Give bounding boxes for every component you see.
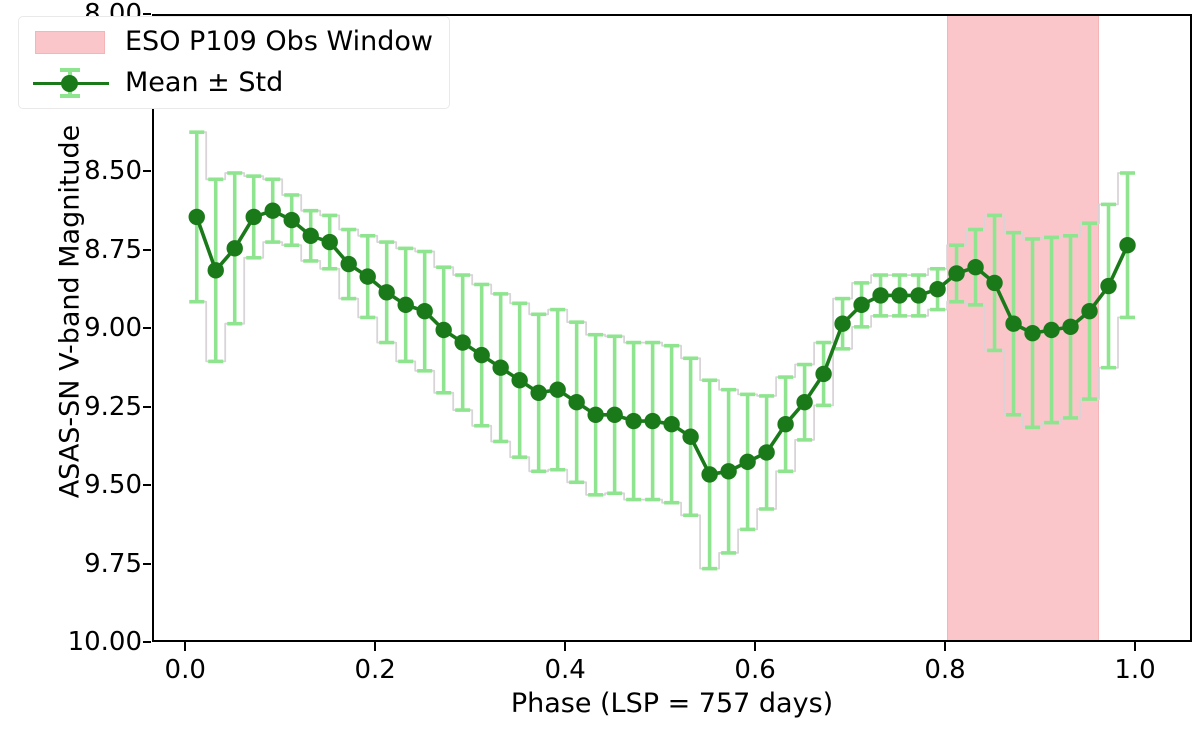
data-point — [435, 322, 451, 338]
data-point — [606, 407, 622, 423]
data-point — [986, 275, 1002, 291]
sigma-band-lower — [197, 242, 1128, 568]
data-point — [777, 416, 793, 432]
data-point — [1024, 325, 1040, 341]
x-tick-mark — [564, 642, 566, 651]
data-point — [284, 212, 300, 228]
data-point — [796, 394, 812, 410]
y-tick-label: 9.50 — [54, 470, 142, 500]
data-point — [929, 281, 945, 297]
y-tick-mark — [143, 327, 151, 329]
data-point — [208, 262, 224, 278]
data-point — [587, 407, 603, 423]
y-tick-mark — [143, 170, 151, 172]
data-point — [1081, 303, 1097, 319]
data-point — [246, 209, 262, 225]
data-point — [378, 284, 394, 300]
legend-label-mean-std: Mean ± Std — [125, 67, 283, 98]
data-point — [815, 366, 831, 382]
data-point — [454, 334, 470, 350]
data-point — [967, 259, 983, 275]
x-tick-label: 0.4 — [505, 655, 625, 685]
data-point — [891, 287, 907, 303]
data-point — [492, 359, 508, 375]
data-point — [1119, 237, 1135, 253]
data-point — [416, 303, 432, 319]
data-point — [1062, 319, 1078, 335]
data-point — [853, 297, 869, 313]
data-point — [265, 202, 281, 218]
x-tick-label: 0.6 — [695, 655, 815, 685]
sigma-band-upper — [197, 132, 1128, 396]
data-point — [625, 413, 641, 429]
data-point — [663, 416, 679, 432]
data-point — [739, 454, 755, 470]
data-point — [701, 466, 717, 482]
data-point — [1100, 278, 1116, 294]
x-tick-label: 0.8 — [885, 655, 1005, 685]
data-point — [644, 413, 660, 429]
data-point — [189, 209, 205, 225]
data-point — [549, 381, 565, 397]
data-point — [720, 463, 736, 479]
data-point — [341, 256, 357, 272]
y-tick-mark — [143, 406, 151, 408]
y-tick-mark — [143, 563, 151, 565]
data-point — [227, 240, 243, 256]
data-point — [872, 287, 888, 303]
marker-dot-icon — [61, 75, 78, 92]
y-tick-mark — [143, 249, 151, 251]
data-point — [834, 316, 850, 332]
legend-errorline-key — [33, 68, 109, 98]
y-tick-label: 9.00 — [54, 313, 142, 343]
y-tick-mark — [143, 641, 151, 643]
series-canvas — [154, 16, 1192, 642]
data-point — [1043, 322, 1059, 338]
data-point — [948, 265, 964, 281]
y-tick-mark — [143, 13, 151, 15]
x-tick-label: 0.0 — [125, 655, 245, 685]
x-tick-label: 0.2 — [315, 655, 435, 685]
data-point — [910, 287, 926, 303]
y-tick-label: 8.50 — [54, 156, 142, 186]
legend: ESO P109 Obs Window Mean ± Std — [18, 16, 450, 109]
data-point — [568, 394, 584, 410]
data-point — [682, 429, 698, 445]
legend-label-obs-window: ESO P109 Obs Window — [125, 26, 433, 57]
y-tick-label: 10.00 — [54, 627, 142, 657]
x-tick-mark — [754, 642, 756, 651]
data-point — [758, 444, 774, 460]
data-point — [1005, 316, 1021, 332]
data-point — [511, 372, 527, 388]
x-tick-mark — [184, 642, 186, 651]
y-tick-label: 9.75 — [54, 549, 142, 579]
legend-item-mean-std[interactable]: Mean ± Std — [33, 67, 433, 98]
y-tick-label: 9.25 — [54, 392, 142, 422]
data-point — [322, 234, 338, 250]
figure: ASAS-SN V-band Magnitude Phase (LSP = 75… — [0, 0, 1200, 735]
x-tick-mark — [374, 642, 376, 651]
legend-patch-key — [33, 27, 109, 57]
legend-item-obs-window[interactable]: ESO P109 Obs Window — [33, 26, 433, 57]
x-tick-mark — [944, 642, 946, 651]
data-point — [530, 385, 546, 401]
data-point — [359, 268, 375, 284]
y-tick-label: 8.75 — [54, 235, 142, 265]
x-axis-label: Phase (LSP = 757 days) — [152, 688, 1192, 719]
data-point — [303, 228, 319, 244]
x-tick-mark — [1134, 642, 1136, 651]
x-tick-label: 1.0 — [1075, 655, 1195, 685]
data-point — [473, 347, 489, 363]
data-point — [397, 297, 413, 313]
errorbar-cap-bottom-icon — [60, 94, 80, 98]
pink-patch-icon — [35, 31, 105, 54]
y-tick-mark — [143, 484, 151, 486]
